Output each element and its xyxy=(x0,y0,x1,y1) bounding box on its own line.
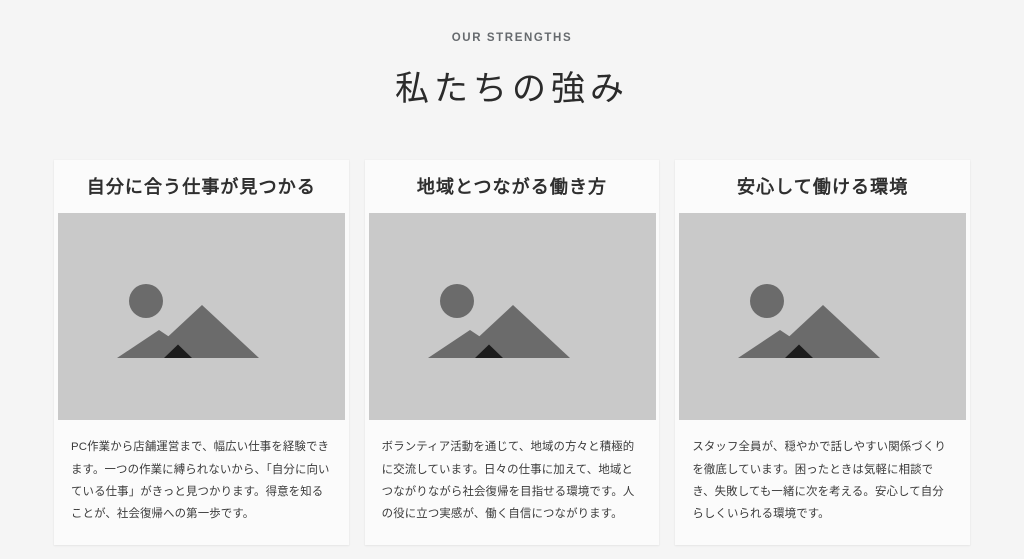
section-header: OUR STRENGTHS 私たちの強み xyxy=(0,0,1024,110)
image-placeholder-icon xyxy=(369,213,656,420)
strength-card: 自分に合う仕事が見つかる PC作業から店舗運営まで、幅広い仕事を経験できます。一… xyxy=(54,160,349,545)
strengths-section: OUR STRENGTHS 私たちの強み 自分に合う仕事が見つかる PC作業から… xyxy=(0,0,1024,559)
strength-card-title: 安心して働ける環境 xyxy=(675,160,970,213)
strength-card-body: PC作業から店舗運営まで、幅広い仕事を経験できます。一つの作業に縛られないから、… xyxy=(54,420,349,525)
strength-card-list: 自分に合う仕事が見つかる PC作業から店舗運営まで、幅広い仕事を経験できます。一… xyxy=(54,160,970,545)
image-placeholder-icon xyxy=(679,213,966,420)
page-title: 私たちの強み xyxy=(0,45,1024,111)
strength-card-title: 自分に合う仕事が見つかる xyxy=(54,160,349,213)
strength-card-body: ボランティア活動を通じて、地域の方々と積極的に交流しています。日々の仕事に加えて… xyxy=(365,420,660,525)
strength-card-title: 地域とつながる働き方 xyxy=(365,160,660,213)
image-placeholder-icon xyxy=(58,213,345,420)
strength-card: 安心して働ける環境 スタッフ全員が、穏やかで話しやすい関係づくりを徹底しています… xyxy=(675,160,970,545)
strength-card: 地域とつながる働き方 ボランティア活動を通じて、地域の方々と積極的に交流していま… xyxy=(365,160,660,545)
section-eyebrow: OUR STRENGTHS xyxy=(0,33,1024,45)
strength-card-body: スタッフ全員が、穏やかで話しやすい関係づくりを徹底しています。困ったときは気軽に… xyxy=(675,420,970,525)
